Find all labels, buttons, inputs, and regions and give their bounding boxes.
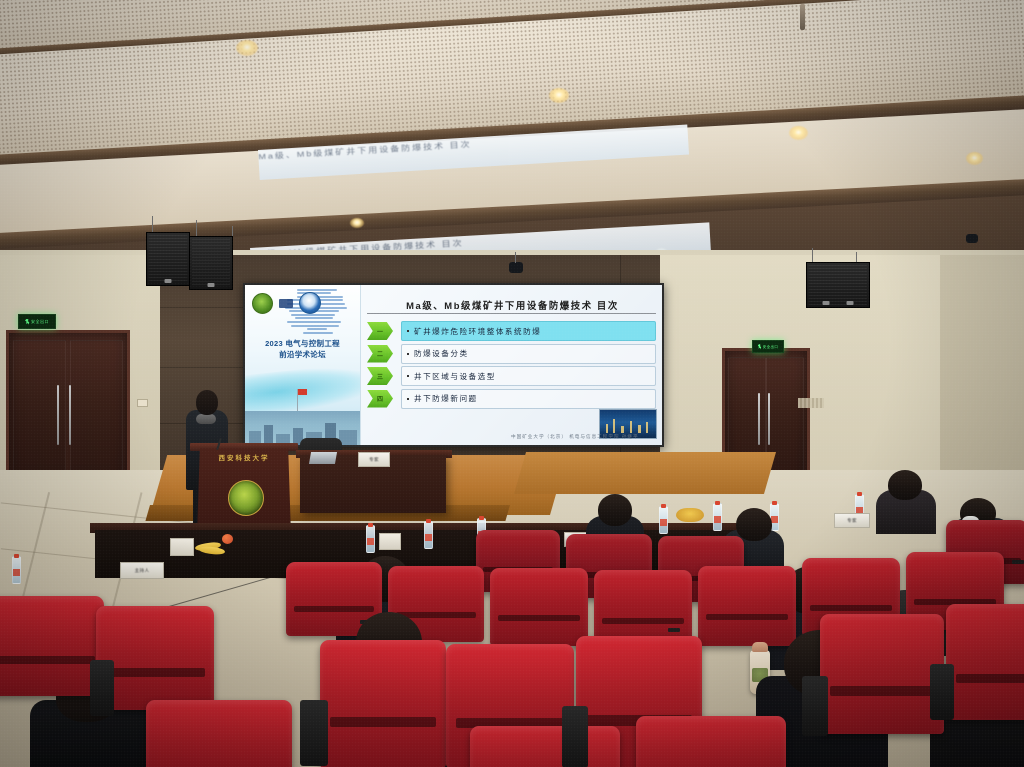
seat-armrest-1 xyxy=(300,700,328,766)
seat-armrest-5 xyxy=(90,660,114,716)
china-flag xyxy=(298,389,307,395)
banner-title-line1: 2023 电气与控制工程 xyxy=(249,339,356,350)
presentation-slide: 2023 电气与控制工程 前沿学术论坛 xyxy=(245,285,662,445)
banana xyxy=(199,546,226,556)
seat-row3-7[interactable] xyxy=(946,604,1024,720)
ceiling-speaker-left-a xyxy=(146,232,190,286)
exit-sign-left: 安全出口 xyxy=(18,314,56,329)
seat-gap xyxy=(330,717,436,727)
bullet-dot-icon xyxy=(407,375,409,377)
front-name-card-3: 专家 xyxy=(834,513,870,528)
seat-armrest-4 xyxy=(930,664,954,720)
speaker-badge-a xyxy=(165,279,172,283)
downlight-5 xyxy=(350,218,364,228)
chevron-icon-1: 一 xyxy=(367,322,393,340)
seat-gap xyxy=(706,614,788,620)
bullet-dot-icon xyxy=(407,353,409,355)
meta-line xyxy=(291,325,339,327)
chevron-icon-3: 三 xyxy=(367,367,393,385)
audience-head-far-2 xyxy=(736,508,772,541)
chevron-icon-2: 二 xyxy=(367,345,393,363)
auditorium-photo: Ma级、Mb级煤矿井下用设备防爆技术 目次 Ma级、Mb级煤矿井下用设备防爆技术… xyxy=(0,0,1024,767)
ceiling-camera xyxy=(509,262,523,273)
chevron-number-2: 二 xyxy=(367,345,393,363)
thumb-light xyxy=(638,425,641,433)
stage-name-card: 专家 xyxy=(358,452,390,467)
seat-armrest-2 xyxy=(562,706,588,767)
ceiling-speaker-left-b xyxy=(189,236,233,290)
bottle-label xyxy=(13,569,20,576)
bottle-cap xyxy=(715,501,720,505)
lecturer-collar xyxy=(196,414,216,424)
seat-row4-3[interactable] xyxy=(636,716,786,767)
bottle-cap xyxy=(368,523,373,527)
bottle-label xyxy=(425,534,432,541)
downlight-1 xyxy=(236,40,258,56)
projection-screen-frame: 2023 电气与控制工程 前沿学术论坛 xyxy=(243,283,664,447)
csee-logo xyxy=(299,292,321,314)
bottle-cap xyxy=(772,501,777,505)
meta-line xyxy=(297,289,337,291)
ceiling-hook xyxy=(800,4,805,30)
ieee-logo xyxy=(279,299,293,308)
thumb-light xyxy=(606,424,608,433)
stage-platform-right xyxy=(514,452,776,494)
door-right-handle-b[interactable] xyxy=(768,393,770,445)
slide-bullet-box-4: 井下防爆新问题 xyxy=(401,389,656,409)
seat-row3-1[interactable] xyxy=(0,596,104,696)
water-bottle-3[interactable] xyxy=(424,521,433,549)
speaker-badge-b xyxy=(208,283,215,287)
door-left-handle-a[interactable] xyxy=(57,385,59,445)
slide-bullet-row-1: 一 矿井爆炸危险环境整体系统防爆 xyxy=(401,321,656,341)
meta-line xyxy=(307,328,327,330)
meta-line xyxy=(303,332,333,334)
speaker-grille-b xyxy=(192,239,230,287)
slide-bullet-text-1: 矿井爆炸危险环境整体系统防爆 xyxy=(414,326,541,337)
slide-bullet-box-1: 矿井爆炸危险环境整体系统防爆 xyxy=(401,321,656,341)
slide-bullet-box-3: 井下区域与设备选型 xyxy=(401,366,656,386)
water-bottle-2[interactable] xyxy=(366,525,375,553)
fruit-plate-right xyxy=(676,508,704,522)
chevron-number-3: 三 xyxy=(367,367,393,385)
chevron-number-1: 一 xyxy=(367,322,393,340)
slide-bullet-text-3: 井下区域与设备选型 xyxy=(414,371,496,382)
speaker-badge-right xyxy=(822,301,829,305)
bottle-cap xyxy=(426,519,431,523)
camera-rod xyxy=(515,252,516,263)
audience-head-far-3 xyxy=(888,470,922,500)
downlight-4 xyxy=(966,152,983,165)
exit-sign-left-glyph: 安全出口 xyxy=(25,319,49,325)
slide-bullet-text-2: 防爆设备分类 xyxy=(414,348,469,359)
speaker-grille-right xyxy=(809,265,867,305)
thermos-cap xyxy=(752,642,768,652)
slide-title-rule xyxy=(367,313,656,314)
audience-head-far-1 xyxy=(598,494,632,526)
slide-bullet-box-2: 防爆设备分类 xyxy=(401,344,656,364)
stage-name-card-text: 专家 xyxy=(369,457,379,463)
running-man-icon-right xyxy=(758,344,762,349)
exit-sign-right-glyph: 安全出口 xyxy=(758,344,779,349)
slide-footer-note: 中国矿业大学（北京） 机电与信息工程学院 孙继平 xyxy=(511,434,639,440)
slide-bullet-text-4: 井下防爆新问题 xyxy=(414,393,478,404)
exit-sign-left-label: 安全出口 xyxy=(31,319,49,325)
slide-banner-panel: 2023 电气与控制工程 前沿学术论坛 xyxy=(245,285,361,445)
bullet-dot-icon xyxy=(407,398,409,400)
seat-gap xyxy=(0,656,95,664)
bullet-dot-icon xyxy=(407,330,409,332)
meta-line xyxy=(295,317,333,319)
water-bottle-5[interactable] xyxy=(659,506,668,534)
chevron-number-4: 四 xyxy=(367,390,393,408)
seat-armrest-3 xyxy=(802,676,828,736)
projection-screen: 2023 电气与控制工程 前沿学术论坛 xyxy=(245,285,662,445)
thumb-light xyxy=(621,426,624,433)
seat-row2-5[interactable] xyxy=(698,566,796,646)
slide-bullet-row-4: 四 井下防爆新问题 xyxy=(401,389,656,409)
meta-line xyxy=(291,314,335,316)
seat-row2-3[interactable] xyxy=(490,568,588,646)
seat-row3-6[interactable] xyxy=(820,614,944,734)
seat-gap xyxy=(602,618,684,624)
front-name-card-3-text: 专家 xyxy=(847,518,857,524)
bottle-cap xyxy=(661,504,666,508)
bottle-cap xyxy=(14,554,19,558)
orange-fruit xyxy=(222,534,233,544)
seat-gap xyxy=(956,674,1024,683)
seat-gap xyxy=(294,606,375,612)
bottle-label xyxy=(660,519,667,526)
bottle-label xyxy=(771,516,778,523)
lecturer-head xyxy=(196,390,218,415)
thumb-light xyxy=(630,421,632,433)
speaker-grille-a xyxy=(149,235,187,283)
seat-gap xyxy=(498,615,580,621)
wall-outlet-left[interactable] xyxy=(137,399,148,407)
door-left-handle-b[interactable] xyxy=(69,385,71,445)
banner-title-block: 2023 电气与控制工程 前沿学术论坛 xyxy=(249,339,356,361)
podium-institution-text: 西安科技大学 xyxy=(200,452,288,462)
seat-gap xyxy=(105,668,204,676)
ceiling-speaker-right xyxy=(806,262,870,308)
right-wall-corner-panel xyxy=(940,255,1024,505)
slide-title: Ma级、Mb级煤矿井下用设备防爆技术 目次 xyxy=(371,291,654,312)
meta-line xyxy=(287,321,341,323)
door-right-handle-a[interactable] xyxy=(758,393,760,445)
water-bottle-1[interactable] xyxy=(12,556,21,584)
slide-content-panel: Ma级、Mb级煤矿井下用设备防爆技术 目次 一 矿井爆炸危险环境整体系统防爆 xyxy=(361,285,662,445)
seat-row3-3[interactable] xyxy=(320,640,446,767)
exit-sign-right-label: 安全出口 xyxy=(763,344,779,349)
thumb-light xyxy=(613,419,615,433)
speaker-badge-right-2 xyxy=(847,301,854,305)
thumb-light xyxy=(646,422,648,433)
downlight-3 xyxy=(789,126,808,140)
seat-number-tag xyxy=(1012,560,1024,564)
front-name-card-1: 主持人 xyxy=(120,562,164,579)
chevron-icon-4: 四 xyxy=(367,390,393,408)
seat-row4-2[interactable] xyxy=(470,726,620,767)
slide-bullet-list: 一 矿井爆炸危险环境整体系统防爆 二 xyxy=(401,321,656,411)
wall-vent-right xyxy=(798,398,824,408)
exit-sign-right: 安全出口 xyxy=(752,340,784,353)
campus-building xyxy=(264,425,273,445)
running-man-icon xyxy=(25,319,30,325)
ceiling-camera-2 xyxy=(966,234,978,243)
seat-row4-1[interactable] xyxy=(146,700,292,767)
laptop[interactable] xyxy=(309,452,337,464)
podium-emblem xyxy=(228,480,264,516)
banner-title-line2: 前沿学术论坛 xyxy=(249,350,356,361)
bottle-label xyxy=(367,538,374,545)
seat-gap xyxy=(830,686,934,696)
bottle-cap xyxy=(857,492,862,496)
slide-bullet-row-2: 二 防爆设备分类 xyxy=(401,344,656,364)
seat-number-tag xyxy=(668,628,680,632)
slide-bullet-row-3: 三 井下区域与设备选型 xyxy=(401,366,656,386)
tissue-box xyxy=(170,538,194,556)
water-bottle-6[interactable] xyxy=(713,503,722,531)
front-name-card-1-text: 主持人 xyxy=(135,568,150,574)
bottle-label xyxy=(714,516,721,523)
bottle-cap xyxy=(479,516,484,520)
xust-seal-logo xyxy=(252,293,273,314)
downlight-2 xyxy=(549,88,569,103)
tissue-box-2 xyxy=(379,533,401,550)
seat-gap xyxy=(810,605,892,611)
